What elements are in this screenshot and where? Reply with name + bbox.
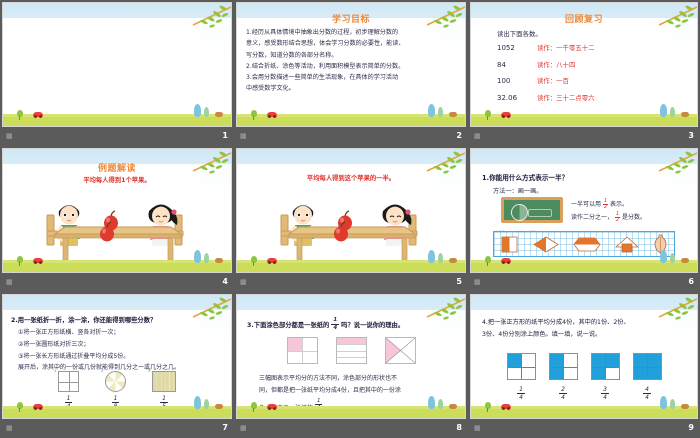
- question-line: 3份、4份分别涂上颜色。填一填，说一说。: [482, 329, 691, 341]
- numerator: 4: [643, 386, 651, 395]
- slide-1[interactable]: 六 认识分数 分一分（一） 第一PPT模板网-WWW.1PPT.COM: [2, 2, 232, 127]
- text-fragment: 是分数。: [622, 214, 646, 221]
- square-diagonals-figure: [385, 337, 416, 364]
- thumb-icon: ▦: [474, 278, 481, 286]
- slide-footer-6: ▦ 6: [470, 273, 698, 290]
- figure-item: 14: [507, 353, 536, 403]
- car-icon: [33, 258, 43, 263]
- question-fragment-a: 3.下面涂色部分都是一张纸的: [247, 320, 329, 329]
- text-fragment: 读作二分之一，: [571, 214, 613, 221]
- bush-icon: [485, 256, 491, 263]
- reading-text: 读作：一百: [537, 76, 569, 85]
- step-line: ①将一张正方形纸横、竖各对折一次；: [11, 327, 225, 339]
- explanation-text: 一半可以用 12 表示。 读作二分之一， 12 是分数。: [571, 199, 691, 224]
- slide-cell-3[interactable]: 回顾复习 读出下面各数。 1052 读作：一千零五十二 84 读作：八十四 10…: [468, 0, 700, 146]
- square-quarters-figure: [58, 371, 79, 392]
- fraction-four-quarters: 44: [643, 386, 651, 402]
- figure-tag: 3: [148, 368, 151, 373]
- tree-icon: [438, 107, 443, 117]
- numerator: 1: [517, 386, 525, 395]
- tree-icon: [204, 253, 209, 263]
- slide-9[interactable]: 4.把一张正方形的纸平均分成4份，其中的1份、2份、 3份、4份分别涂上颜色。填…: [470, 294, 698, 419]
- branch-decoration-icon: [173, 3, 231, 39]
- slide-7[interactable]: 2.用一张纸折一折，涂一涂，你还能得到哪些分数？ ①将一张正方形纸横、竖各对折一…: [2, 294, 232, 419]
- denominator: 2: [603, 205, 608, 210]
- slide-footer-4: ▦ 4: [2, 273, 232, 290]
- thumb-icon: ▦: [474, 132, 481, 140]
- figure-label: 14: [507, 384, 536, 403]
- note-line: 同，但都是把一张纸平均分成4份，且把其中的一份涂: [259, 385, 453, 397]
- dog-icon: [681, 112, 689, 117]
- slide-2[interactable]: 学习目标 1.经历从具体情境中抽象出分数的过程，初步理解分数的 意义，感受数形结…: [236, 2, 466, 127]
- numerator: 2: [559, 386, 567, 395]
- half-circle-drawing: [511, 204, 528, 221]
- tree-icon: [438, 399, 443, 409]
- fraction-one-half: 12: [615, 212, 620, 223]
- bush-icon: [251, 402, 257, 409]
- tree-icon: [428, 104, 435, 117]
- square-quarters-blue-3: [591, 353, 620, 380]
- number-value: 32.06: [497, 94, 537, 102]
- question-fragment-b: 吗？说一说你的理由。: [341, 320, 404, 329]
- tree-icon: [670, 253, 675, 263]
- figure-item: 34: [591, 353, 620, 403]
- thumb-icon: ▦: [6, 132, 13, 140]
- square-quarters-blue-4: [633, 353, 662, 380]
- square-quadrants-figure: [287, 337, 318, 364]
- slide-6[interactable]: 1.你能用什么方式表示一半？ 方法一：画一画。 一半可以用 12 表示。 读作二…: [470, 148, 698, 273]
- list-item: 32.06 读作：三十二点零六: [497, 93, 687, 102]
- bush-icon: [485, 402, 491, 409]
- denominator: 4: [603, 394, 607, 401]
- slide-footer-9: ▦ 9: [470, 419, 698, 436]
- bush-icon: [251, 256, 257, 263]
- list-item: 1052 读作：一千零五十二: [497, 43, 687, 52]
- shape-half-gallery: [493, 231, 675, 257]
- number-reading-list: 1052 读作：一千零五十二 84 读作：八十四 100 读作：一百 32.06…: [497, 43, 687, 109]
- text-fragment: 表示。: [610, 201, 628, 208]
- dog-icon: [215, 404, 223, 409]
- number-value: 100: [497, 77, 537, 85]
- reading-text: 读作：一千零五十二: [537, 43, 595, 52]
- bush-icon: [485, 110, 491, 117]
- page-number: 3: [688, 131, 694, 140]
- car-icon: [267, 404, 277, 409]
- slide-footer-3: ▦ 3: [470, 127, 698, 144]
- step-line: ②将一张圆形纸对折三次；: [11, 339, 225, 351]
- bush-icon: [17, 110, 23, 117]
- tree-icon: [194, 250, 201, 263]
- denominator: 2: [615, 218, 620, 223]
- car-icon: [501, 258, 511, 263]
- objective-line: 意义，感受数形结合思想，体会学习分数的必要性，能读、: [246, 38, 458, 49]
- explanation-line-2: 读作二分之一， 12 是分数。: [571, 212, 691, 225]
- slide-title: 学习目标: [237, 12, 465, 25]
- objective-line: 2.结合折纸、涂色等活动，利用面积模型表示简单的分数。: [246, 61, 458, 72]
- slide-footer-5: ▦ 5: [236, 273, 466, 290]
- tree-icon: [428, 396, 435, 409]
- house-half-shape: [615, 236, 639, 253]
- slide-footer-2: ▦ 2: [236, 127, 466, 144]
- tree-icon: [660, 396, 667, 409]
- tree-icon: [670, 399, 675, 409]
- figure-label: 24: [549, 384, 578, 403]
- slide-footer-8: ▦ 8: [236, 419, 466, 436]
- slide-cell-2[interactable]: 学习目标 1.经历从具体情境中抽象出分数的过程，初步理解分数的 意义，感受数形结…: [234, 0, 468, 146]
- question-text: 4.把一张正方形的纸平均分成4份，其中的1份、2份、 3份、4份分别涂上颜色。填…: [482, 317, 691, 342]
- page-number: 8: [456, 423, 462, 432]
- denominator: 4: [645, 394, 649, 401]
- figure-tag: 2: [101, 368, 104, 373]
- car-icon: [267, 258, 277, 263]
- figure-item: 44: [633, 353, 662, 403]
- numerator: 1: [331, 317, 339, 325]
- fraction-one-half: 12: [603, 199, 608, 210]
- step-line: ③将一张长方形纸通过折叠平均分成5份。: [11, 351, 225, 363]
- thumb-icon: ▦: [6, 278, 13, 286]
- list-item: 100 读作：一百: [497, 76, 687, 85]
- numerator: 1: [160, 395, 168, 404]
- car-icon: [267, 112, 277, 117]
- thumb-icon: ▦: [6, 424, 13, 432]
- slide-cell-4[interactable]: 例题解读 平均每人得到1个苹果。: [0, 146, 234, 292]
- tree-icon: [670, 107, 675, 117]
- bush-icon: [251, 110, 257, 117]
- slide-footer-1: ▦ 1: [2, 127, 232, 144]
- car-icon: [501, 404, 511, 409]
- instruction-text: 读出下面各数。: [497, 29, 542, 38]
- rhombus-half-shape: [533, 236, 559, 253]
- number-value: 1052: [497, 44, 537, 52]
- explanation-line-1: 一半可以用 12 表示。: [571, 199, 691, 212]
- denominator: 4: [333, 325, 337, 331]
- slide-title: 例题解读: [3, 161, 231, 174]
- dog-icon: [681, 258, 689, 263]
- tree-icon: [660, 250, 667, 263]
- question-text: 2.用一张纸折一折，涂一涂，你还能得到哪些分数？: [11, 315, 225, 327]
- slide-cell-7[interactable]: 2.用一张纸折一折，涂一涂，你还能得到哪些分数？ ①将一张正方形纸横、竖各对折一…: [0, 292, 234, 438]
- dog-icon: [215, 258, 223, 263]
- dog-icon: [449, 112, 457, 117]
- dog-icon: [449, 258, 457, 263]
- question-line: 4.把一张正方形的纸平均分成4份，其中的1份、2份、: [482, 317, 691, 329]
- tree-icon: [194, 396, 201, 409]
- four-rows-figure: [336, 337, 367, 364]
- tree-icon: [194, 104, 201, 117]
- hexagon-half-shape: [573, 237, 601, 252]
- figure-item: 24: [549, 353, 578, 403]
- numerator: 3: [601, 386, 609, 395]
- circle-eighths-figure: [105, 371, 126, 392]
- page-number: 2: [456, 131, 462, 140]
- diagonal-lines: [386, 338, 415, 363]
- slide-cell-6[interactable]: 1.你能用什么方式表示一半？ 方法一：画一画。 一半可以用 12 表示。 读作二…: [468, 146, 700, 292]
- rectangle-fifths-figure: [152, 371, 176, 392]
- car-icon: [33, 404, 43, 409]
- square-quarters-blue-2: [549, 353, 578, 380]
- dog-icon: [449, 404, 457, 409]
- page-number: 4: [222, 277, 228, 286]
- dog-icon: [681, 404, 689, 409]
- slide-footer-7: ▦ 7: [2, 419, 232, 436]
- slide-thumbnail-grid: 六 认识分数 分一分（一） 第一PPT模板网-WWW.1PPT.COM ▦ 1: [0, 0, 700, 438]
- numerator: 1: [315, 398, 323, 406]
- slide-3[interactable]: 回顾复习 读出下面各数。 1052 读作：一千零五十二 84 读作：八十四 10…: [470, 2, 698, 127]
- objective-line: 3.会用分数描述一些简单的生活现象，在具体的学习活动: [246, 72, 458, 83]
- reading-text: 读作：三十二点零六: [537, 93, 595, 102]
- figure-label: 34: [591, 384, 620, 403]
- slide-title: 回顾复习: [471, 12, 697, 25]
- square-half-shape: [501, 236, 518, 253]
- question-text: 3.下面涂色部分都是一张纸的 14 吗？说一说你的理由。: [247, 317, 459, 332]
- slide-cell-9[interactable]: 4.把一张正方形的纸平均分成4份，其中的1份、2份、 3份、4份分别涂上颜色。填…: [468, 292, 700, 438]
- dog-icon: [215, 112, 223, 117]
- objective-line: 中感受数学文化。: [246, 83, 458, 94]
- denominator: 4: [561, 394, 565, 401]
- reading-text: 读作：八十四: [537, 60, 575, 69]
- fraction-one-quarter: 14: [517, 386, 525, 402]
- figure-label: 44: [633, 384, 662, 403]
- page-number: 1: [222, 131, 228, 140]
- bush-icon: [17, 256, 23, 263]
- fraction-two-quarters: 24: [559, 386, 567, 402]
- bush-icon: [17, 402, 23, 409]
- slide-cell-5[interactable]: 平均每人得到这个苹果的一半。: [234, 146, 468, 292]
- page-number: 7: [222, 423, 228, 432]
- figure-tag: 1: [54, 368, 57, 373]
- square-quarters-blue-1: [507, 353, 536, 380]
- car-icon: [501, 112, 511, 117]
- classroom-scene-illustration: [3, 181, 232, 261]
- slide-8[interactable]: 3.下面涂色部分都是一张纸的 14 吗？说一说你的理由。: [236, 294, 466, 419]
- slide-cell-8[interactable]: 3.下面涂色部分都是一张纸的 14 吗？说一说你的理由。: [234, 292, 468, 438]
- fraction-three-quarters: 34: [601, 386, 609, 402]
- blackboard-illustration: [501, 197, 563, 223]
- numerator: 1: [112, 395, 120, 404]
- classroom-scene-illustration: [237, 181, 466, 261]
- number-value: 84: [497, 61, 537, 69]
- chalk-scribble: [528, 209, 552, 217]
- list-item: 84 读作：八十四: [497, 60, 687, 69]
- pink-figure-row: [237, 337, 465, 369]
- objective-line: 1.经历从具体情境中抽象出分数的过程，初步理解分数的: [246, 27, 458, 38]
- thumb-icon: ▦: [240, 132, 247, 140]
- tree-icon: [204, 399, 209, 409]
- car-icon: [33, 112, 43, 117]
- question-text: 1.你能用什么方式表示一半？: [482, 172, 568, 182]
- thumb-icon: ▦: [240, 424, 247, 432]
- thumb-icon: ▦: [474, 424, 481, 432]
- objective-line: 写分数，知道分数的各部分名称。: [246, 50, 458, 61]
- text-fragment: 一半可以用: [571, 201, 601, 208]
- numerator: 1: [65, 395, 73, 404]
- question-block: 2.用一张纸折一折，涂一涂，你还能得到哪些分数？ ①将一张正方形纸横、竖各对折一…: [11, 315, 225, 374]
- tree-icon: [204, 107, 209, 117]
- page-number: 9: [688, 423, 694, 432]
- fraction-one-quarter: 14: [331, 317, 339, 332]
- branch-decoration-icon: [639, 149, 697, 185]
- method-one-label: 方法一：画一画。: [493, 186, 543, 195]
- tree-icon: [428, 250, 435, 263]
- thumb-icon: ▦: [240, 278, 247, 286]
- page-number: 5: [456, 277, 462, 286]
- tree-icon: [660, 104, 667, 117]
- slide-cell-1[interactable]: 六 认识分数 分一分（一） 第一PPT模板网-WWW.1PPT.COM ▦ 1: [0, 0, 234, 146]
- tree-icon: [438, 253, 443, 263]
- denominator: 4: [519, 394, 523, 401]
- objectives-text: 1.经历从具体情境中抽象出分数的过程，初步理解分数的 意义，感受数形结合思想，体…: [246, 27, 458, 95]
- slide-5[interactable]: 平均每人得到这个苹果的一半。: [236, 148, 466, 273]
- slide-4[interactable]: 例题解读 平均每人得到1个苹果。: [2, 148, 232, 273]
- page-number: 6: [688, 277, 694, 286]
- note-line: 三幅图表示平均分的方法不同，涂色部分的形状也不: [259, 373, 453, 385]
